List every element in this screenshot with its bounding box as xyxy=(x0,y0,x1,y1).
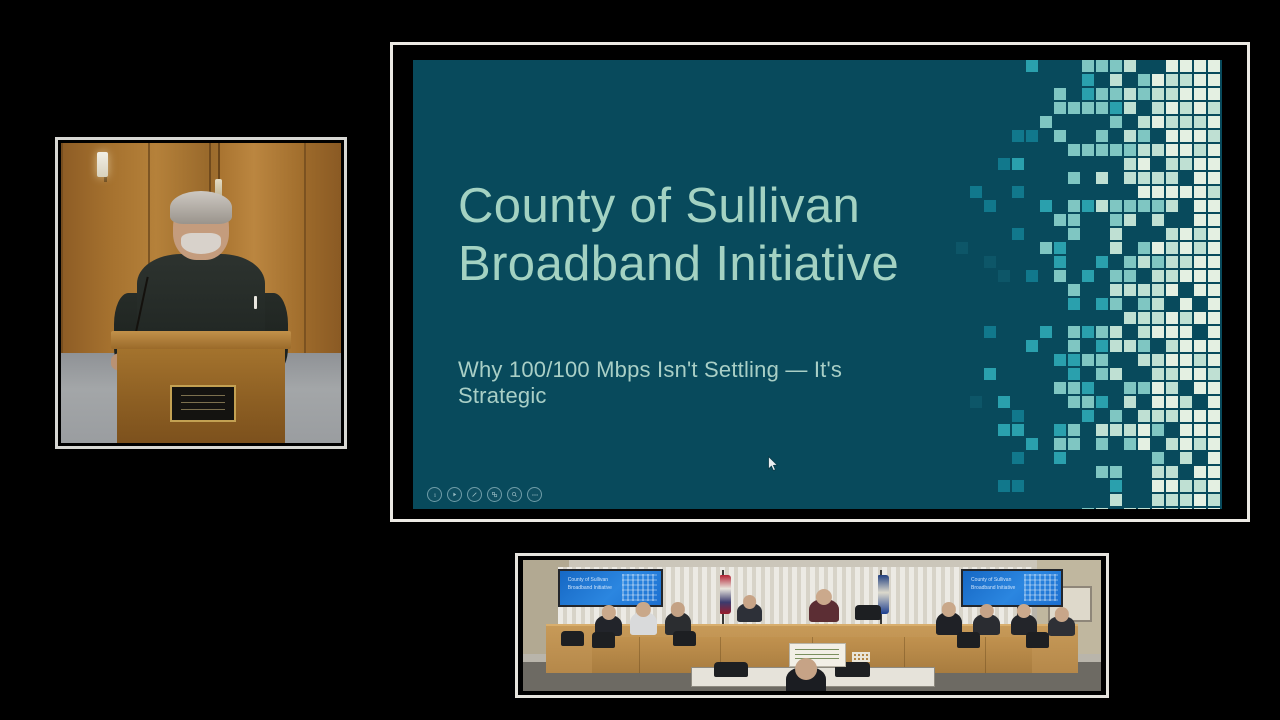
room-display-right-title: County of Sullivan Broadband Initiative xyxy=(971,577,1027,592)
wall-sconce-light xyxy=(97,152,108,177)
mouse-cursor xyxy=(768,456,779,472)
wall-vent xyxy=(852,652,869,662)
room-display-right-mosaic xyxy=(1024,574,1057,601)
person-right-1 xyxy=(936,612,963,634)
slide-title-line-1: County of Sullivan xyxy=(458,179,860,233)
chair-right-2 xyxy=(1026,632,1049,648)
pixel-mosaic-graphic xyxy=(942,60,1222,509)
speaker-camera-panel[interactable] xyxy=(55,137,347,449)
info-icon[interactable]: i xyxy=(427,487,442,502)
slides-grid-icon[interactable] xyxy=(487,487,502,502)
slide-letterbox: County of Sullivan Broadband Initiative … xyxy=(396,48,1244,516)
speaker-beard xyxy=(181,233,220,254)
chair-left-1 xyxy=(561,631,584,647)
chair-empty-dais xyxy=(855,605,881,621)
chair-left-2 xyxy=(592,632,615,648)
room-display-left-title: County of Sullivan Broadband Initiative xyxy=(568,577,626,592)
slide-title-line-2: Broadband Initiative xyxy=(458,236,922,294)
room-camera-feed: County of Sullivan Broadband Initiative … xyxy=(523,560,1101,691)
person-left-2 xyxy=(630,612,657,634)
more-options-icon[interactable] xyxy=(527,487,542,502)
zoom-icon[interactable] xyxy=(507,487,522,502)
speaker-hair xyxy=(170,191,232,224)
podium-top-surface xyxy=(111,331,290,349)
slide-title: County of Sullivan Broadband Initiative xyxy=(458,178,922,294)
person-dais-left xyxy=(737,603,762,621)
video-stream-stage: County of Sullivan Broadband Initiative … xyxy=(0,0,1280,720)
room-display-right: County of Sullivan Broadband Initiative xyxy=(961,569,1063,607)
svg-text:i: i xyxy=(434,492,436,499)
presentation-toolbar[interactable]: i xyxy=(427,487,542,502)
room-camera-panel[interactable]: County of Sullivan Broadband Initiative … xyxy=(515,553,1109,698)
presentation-share-panel[interactable]: County of Sullivan Broadband Initiative … xyxy=(390,42,1250,522)
person-foreground-attendee xyxy=(786,667,826,691)
chair-right-1 xyxy=(957,632,980,648)
person-dais-center xyxy=(809,599,839,621)
room-display-left-mosaic xyxy=(622,574,656,601)
room-display-left: County of Sullivan Broadband Initiative xyxy=(558,569,663,607)
chair-left-3 xyxy=(673,631,696,647)
chair-front-left xyxy=(714,662,749,676)
person-right-4 xyxy=(1048,616,1075,636)
presentation-slide[interactable]: County of Sullivan Broadband Initiative … xyxy=(413,60,1222,509)
podium-plaque xyxy=(170,385,236,422)
pen-icon[interactable] xyxy=(467,487,482,502)
pocket-pen xyxy=(254,296,257,309)
speaker-camera-feed xyxy=(61,143,341,443)
slide-subtitle: Why 100/100 Mbps Isn't Settling — It's S… xyxy=(458,357,922,409)
play-icon[interactable] xyxy=(447,487,462,502)
